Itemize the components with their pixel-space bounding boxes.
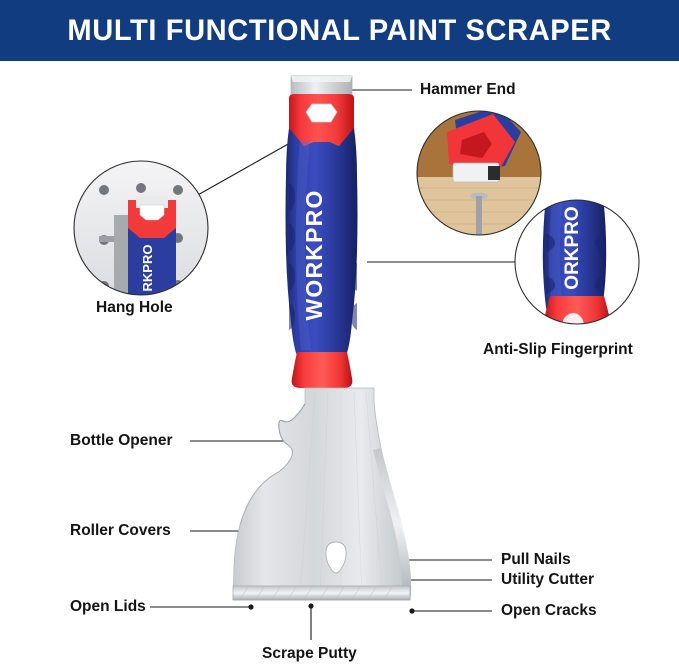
callout-label-bottle-opener: Bottle Opener xyxy=(70,433,172,449)
brand-logo: WORKPRO xyxy=(301,189,327,320)
product-illustration: WORKPRO xyxy=(0,0,679,668)
callout-label-anti-slip-fingerprint: Anti-Slip Fingerprint xyxy=(483,342,633,358)
tool-assembly: WORKPRO xyxy=(233,76,411,600)
callout-label-open-cracks: Open Cracks xyxy=(501,603,597,619)
hang-hole-opening xyxy=(306,104,337,122)
svg-text:ORKPRO: ORKPRO xyxy=(562,206,583,289)
grip-inset: ORKPRO xyxy=(515,196,639,330)
callout-label-roller-covers: Roller Covers xyxy=(70,523,171,539)
hammer-inset xyxy=(417,106,541,236)
callout-label-open-lids: Open Lids xyxy=(70,599,146,615)
leader-hang-hole xyxy=(196,143,290,196)
handle-bottom-collar xyxy=(292,352,353,388)
callout-label-hammer-end: Hammer End xyxy=(420,82,516,98)
scraper-blade xyxy=(233,388,411,600)
hang-hole-inset: RKPRO xyxy=(74,161,208,298)
callout-label-pull-nails: Pull Nails xyxy=(501,552,571,568)
svg-text:RKPRO: RKPRO xyxy=(140,245,155,292)
callout-label-scrape-putty: Scrape Putty xyxy=(262,646,357,662)
infographic-page: MULTI FUNCTIONAL PAINT SCRAPER xyxy=(0,0,679,668)
callout-label-utility-cutter: Utility Cutter xyxy=(501,572,594,588)
callout-label-hang-hole: Hang Hole xyxy=(96,300,173,316)
